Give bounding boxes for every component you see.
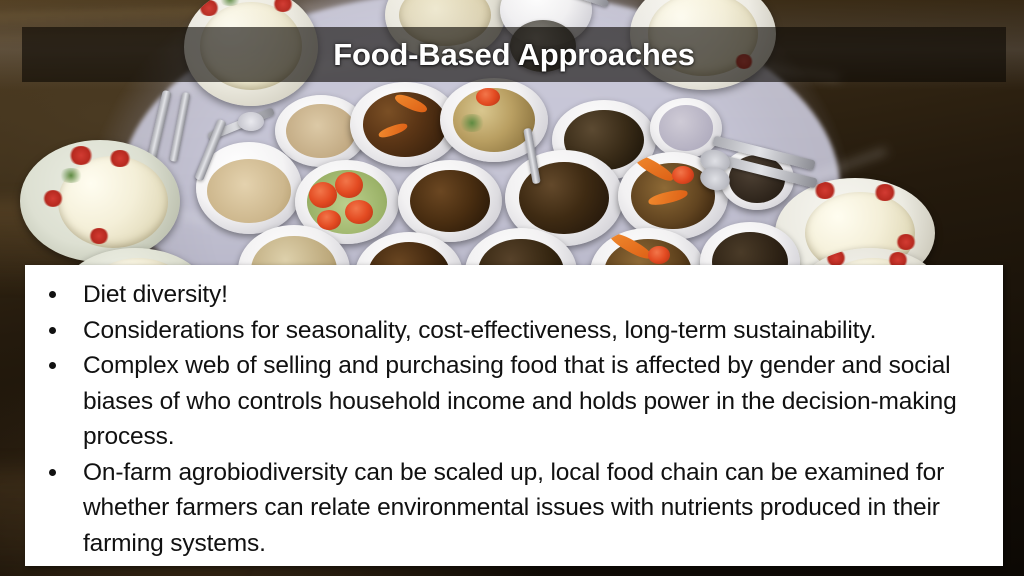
spoon-head [238,112,264,131]
list-item: Complex web of selling and purchasing fo… [35,348,993,455]
bullet-list: Diet diversity! Considerations for seaso… [35,277,993,561]
list-item-text: Complex web of selling and purchasing fo… [83,352,957,450]
list-item: On-farm agrobiodiversity can be scaled u… [35,455,993,562]
list-item: Diet diversity! [35,277,993,313]
list-item-text: Considerations for seasonality, cost-eff… [83,317,876,344]
content-box: Diet diversity! Considerations for seaso… [25,265,1003,566]
title-banner: Food-Based Approaches [22,27,1006,82]
list-item: Considerations for seasonality, cost-eff… [35,313,993,349]
list-item-text: On-farm agrobiodiversity can be scaled u… [83,459,944,557]
bullet-icon [49,291,56,298]
bullet-icon [49,362,56,369]
presentation-slide: Food-Based Approaches Diet diversity! Co… [0,0,1024,576]
list-item-text: Diet diversity! [83,281,228,308]
bullet-icon [49,327,56,334]
bean-bowl [398,160,502,242]
bullet-icon [49,469,56,476]
page-title: Food-Based Approaches [333,39,695,70]
rice-plate [20,140,180,262]
